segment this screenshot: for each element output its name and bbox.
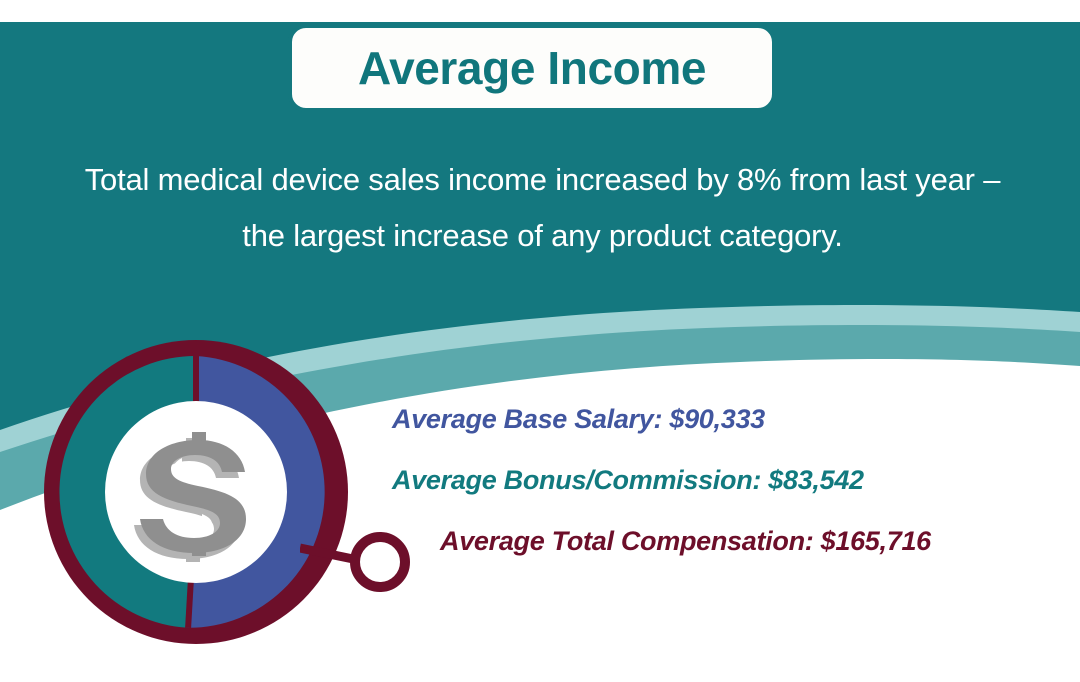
page-title: Average Income [358, 45, 706, 91]
intro-paragraph: Total medical device sales income increa… [70, 152, 1015, 264]
infographic-canvas: Average Income Total medical device sale… [0, 0, 1080, 682]
legend-item-base-salary: Average Base Salary: $90,333 [392, 406, 1052, 433]
legend-item-bonus-commission: Average Bonus/Commission: $83,542 [392, 467, 1052, 494]
legend-item-total-compensation: Average Total Compensation: $165,716 [440, 528, 1052, 555]
connector-line [300, 548, 358, 560]
title-card: Average Income [288, 24, 776, 112]
legend: Average Base Salary: $90,333 Average Bon… [392, 406, 1052, 555]
